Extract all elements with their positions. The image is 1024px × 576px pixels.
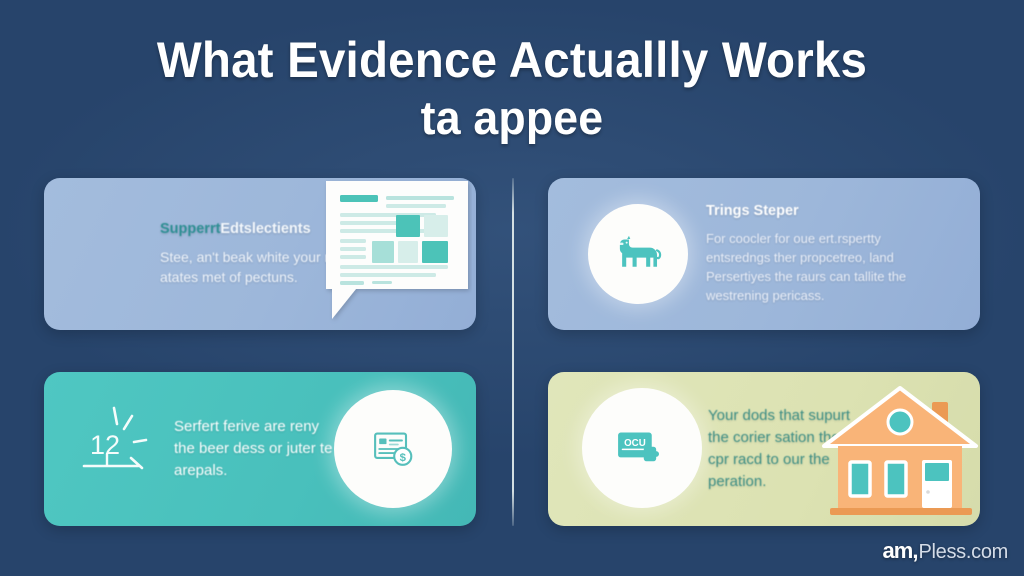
card-bottom-left-text: Serfert ferive are reny the beer dess or… [174,416,339,482]
heading-word-1: Supperrt [160,221,220,237]
card-top-right-heading: Trings Steper [706,203,936,220]
card-top-right-body: For coocler for oue ert.rspertty entsred… [706,229,936,305]
heading-word-2: Edtslectients [220,221,310,237]
clock-number: 12 [90,430,120,460]
watermark-brand: am, [883,538,918,564]
id-card-badge: OCU [582,388,702,508]
clock-sunburst-icon: 12 [74,394,184,499]
card-bottom-left-body: Serfert ferive are reny the beer dess or… [174,416,339,482]
card-bottom-left[interactable]: 12 Serfert ferive are reny the beer dess… [44,372,476,526]
svg-text:$: $ [400,452,407,464]
invoice-badge: $ [334,390,452,508]
horse-icon [609,225,667,283]
document-speech-bubble-icon [322,178,472,327]
card-top-right-text: Trings Steper For coocler for oue ert.rs… [706,203,936,305]
invoice-dollar-icon: $ [367,423,419,475]
house-icon [820,374,980,524]
title-line-1: What Evidence Actuallly Works [26,32,999,89]
vertical-divider [512,178,514,526]
id-card-puzzle-icon: OCU [611,420,673,477]
card-bottom-right[interactable]: OCU Your dods that supurt the corier sat… [548,372,980,526]
card-top-right[interactable]: Trings Steper For coocler for oue ert.rs… [548,178,980,330]
title-line-2: ta appee [26,89,999,146]
card-top-left[interactable]: SupperrtEdtslectients Stee, an't beak wh… [44,178,476,330]
horse-badge [588,204,688,304]
watermark: am, Pless.com [883,538,1008,564]
id-card-label: OCU [624,437,646,448]
page-title: What Evidence Actuallly Works ta appee [0,32,1024,146]
watermark-domain: Pless.com [918,541,1008,564]
